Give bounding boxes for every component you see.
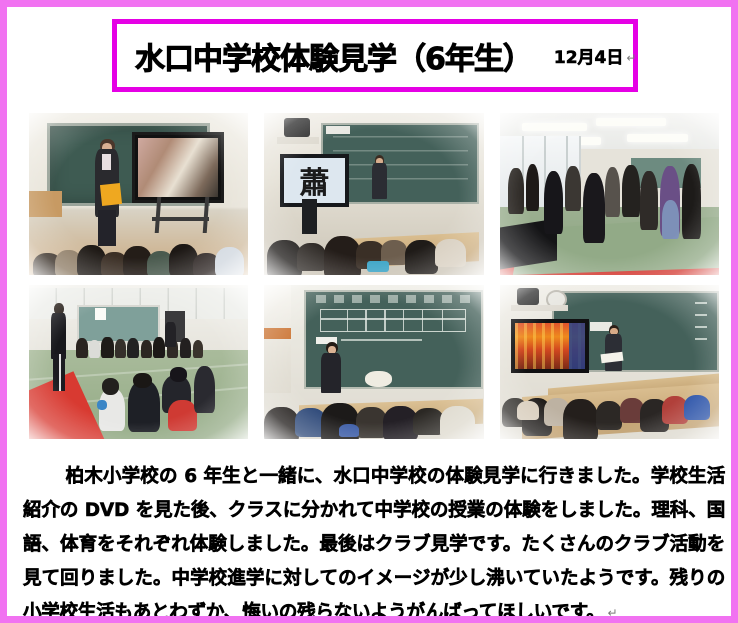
photo-2: 蕭 [264, 113, 483, 275]
photo-6 [500, 285, 719, 439]
page-title: 水口中学校体験見学（6年生） [135, 34, 532, 78]
body-paragraph-text: 柏木小学校の 6 年生と一緒に、水口中学校の体験見学に行きました。学校生活紹介の… [23, 466, 725, 623]
photo-5 [264, 285, 483, 439]
title-box: 水口中学校体験見学（6年生） 12月4日↵ [112, 19, 638, 92]
body-paragraph: 柏木小学校の 6 年生と一緒に、水口中学校の体験見学に行きました。学校生活紹介の… [23, 460, 725, 623]
newsletter-page: 水口中学校体験見学（6年生） 12月4日↵ [0, 0, 738, 623]
paragraph-mark-icon: ↵ [626, 51, 636, 65]
photo-3-scene [500, 113, 719, 275]
photo-cell-1 [21, 108, 256, 280]
photo-1-scene [29, 113, 248, 275]
photo-4-scene [29, 285, 248, 439]
photo-cell-2: 蕭 [256, 108, 491, 280]
photo-3 [500, 113, 719, 275]
photo-6-scene [500, 285, 719, 439]
photo-grid: 蕭 [21, 108, 727, 444]
photo-5-scene [264, 285, 483, 439]
photo-cell-6 [492, 280, 727, 444]
photo-4 [29, 285, 248, 439]
photo-2-scene: 蕭 [264, 113, 483, 275]
photo-cell-5 [256, 280, 491, 444]
paragraph-mark-end-icon: ↵ [608, 606, 618, 620]
photo-1 [29, 113, 248, 275]
photo-cell-4 [21, 280, 256, 444]
monitor-kanji: 蕭 [284, 158, 345, 203]
title-date-text: 12月4日 [554, 48, 624, 68]
title-date: 12月4日↵ [554, 43, 637, 68]
photo-cell-3 [492, 108, 727, 280]
